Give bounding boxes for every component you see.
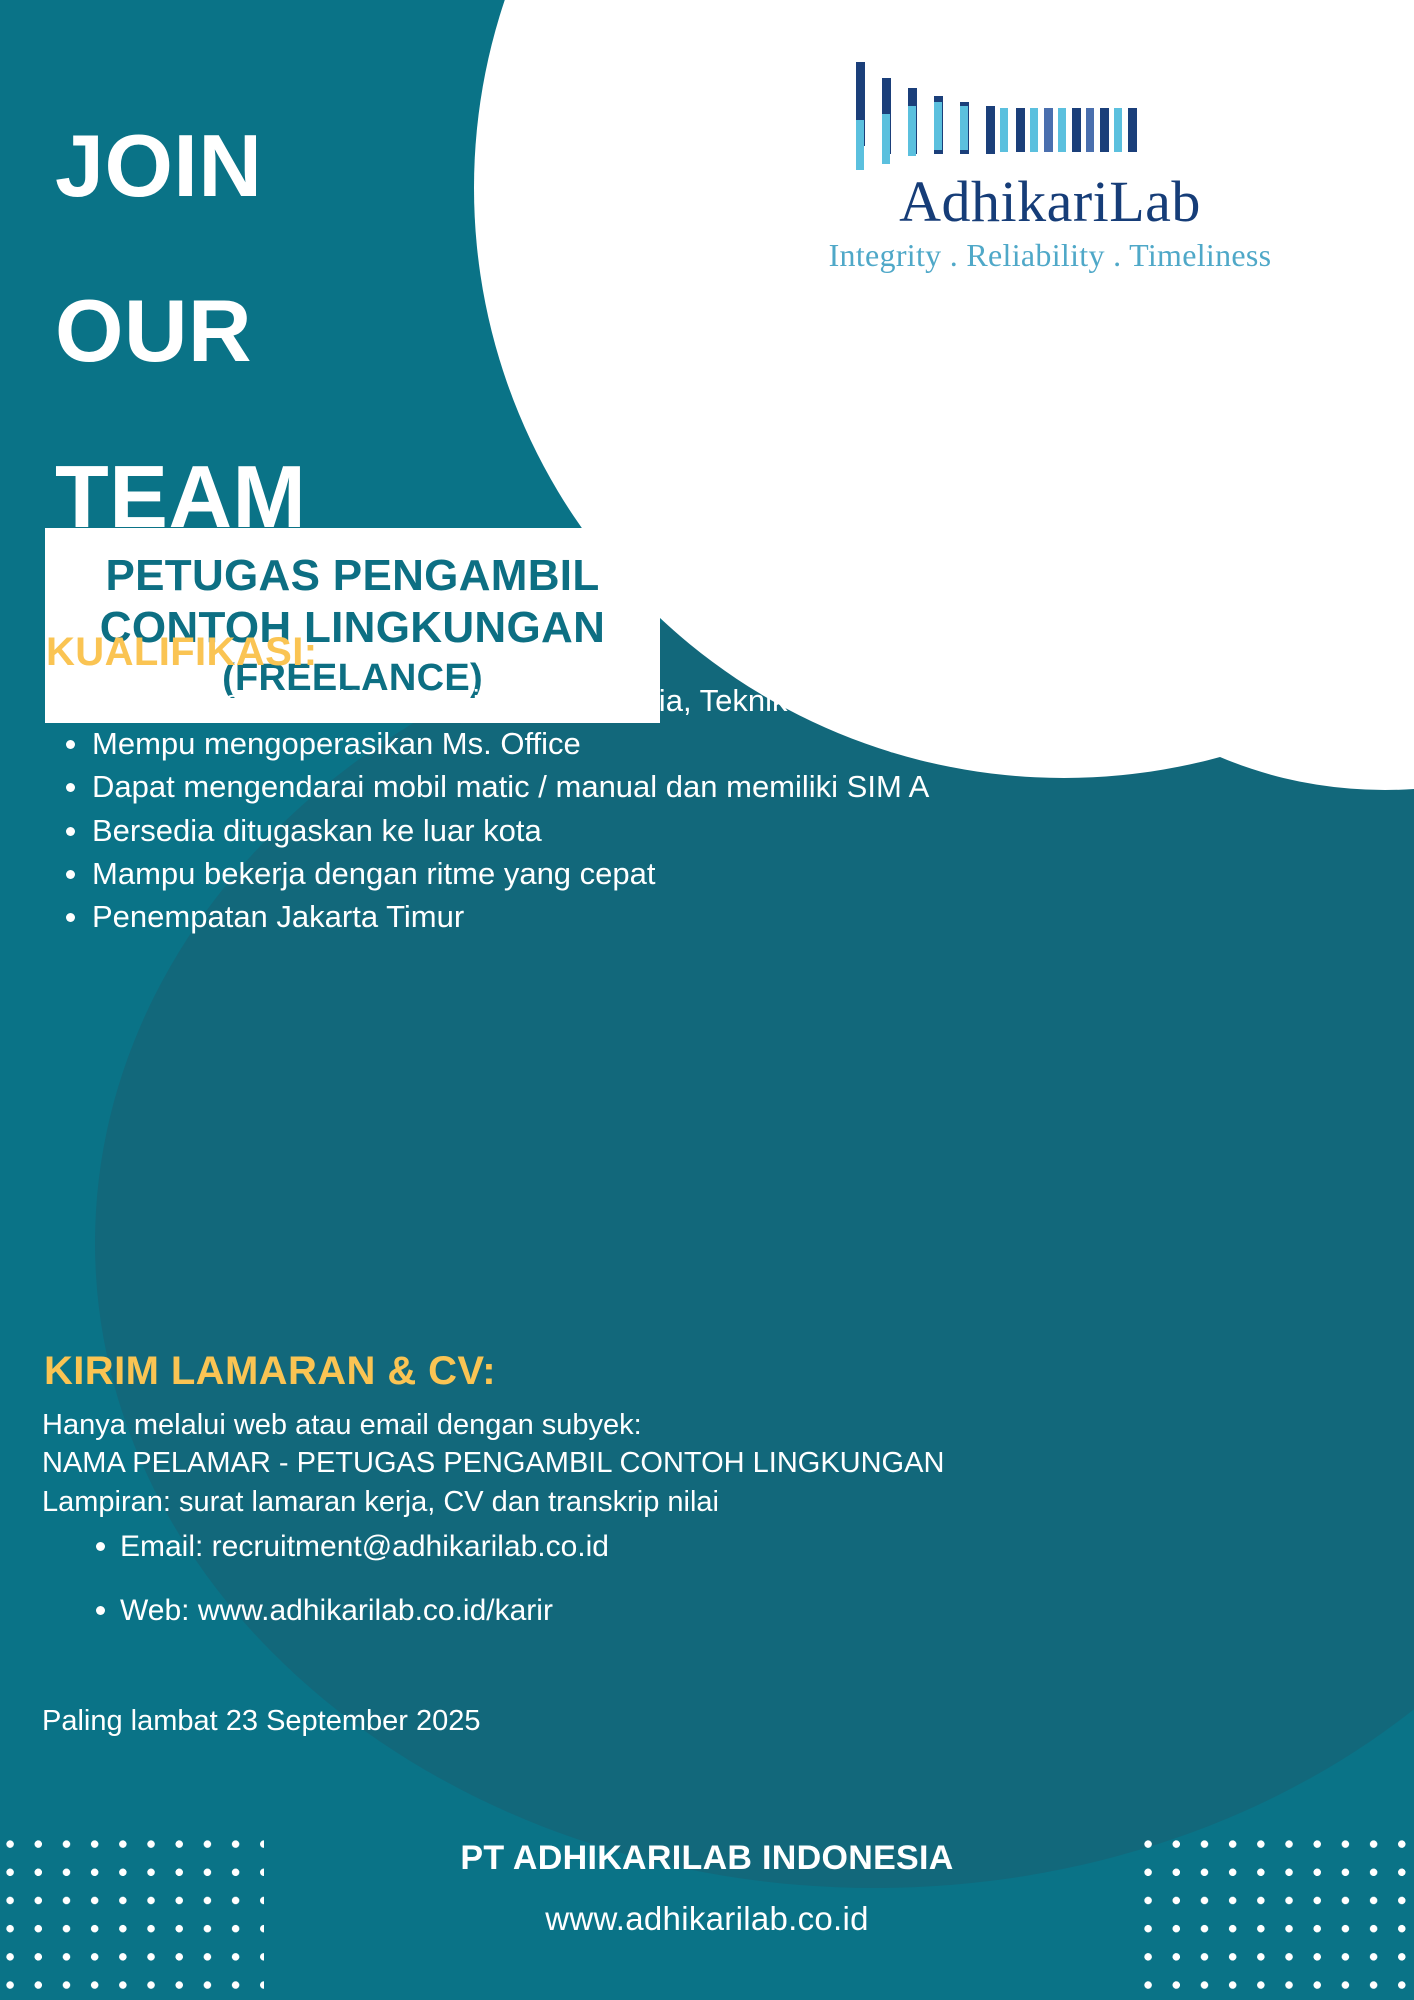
poster-footer: PT ADHIKARILAB INDONESIA www.adhikarilab… [0,1839,1414,1938]
list-item: Penempatan Jakarta Timur [92,898,1252,935]
list-item: Mampu bekerja dengan ritme yang cepat [92,855,1252,892]
list-item: Bersedia ditugaskan ke luar kota [92,812,1252,849]
headline-line-3: TEAM [55,456,306,539]
contact-email[interactable]: Email: recruitment@adhikarilab.co.id [120,1528,1220,1566]
job-poster: JOIN OUR TEAM [0,0,1414,2000]
qualifications-heading: KUALIFIKASI: [46,630,317,675]
contact-web[interactable]: Web: www.adhikarilab.co.id/karir [120,1592,1220,1630]
job-title-line-1: PETUGAS PENGAMBIL [61,550,644,602]
logo-company-name: AdhikariLab [740,172,1360,231]
logo-tagline: Integrity . Reliability . Timeliness [740,237,1360,274]
footer-company-name: PT ADHIKARILAB INDONESIA [0,1839,1414,1878]
contact-list: Email: recruitment@adhikarilab.co.id Web… [80,1528,1220,1655]
qualifications-list: Min Lulusan SMA/SMK Kimia, Analis Kimia,… [48,682,1252,941]
headline-line-2: OUR [55,290,306,373]
apply-instructions: Hanya melalui web atau email dengan suby… [42,1406,1222,1521]
footer-website[interactable]: www.adhikarilab.co.id [0,1900,1414,1938]
company-logo: AdhikariLab Integrity . Reliability . Ti… [740,58,1360,274]
apply-instruction-line-3: Lampiran: surat lamaran kerja, CV dan tr… [42,1483,1222,1521]
headline-line-1: JOIN [55,125,306,208]
list-item: Mempu mengoperasikan Ms. Office [92,725,1252,762]
apply-instruction-line-2: NAMA PELAMAR - PETUGAS PENGAMBIL CONTOH … [42,1444,1222,1482]
list-item: Dapat mengendarai mobil matic / manual d… [92,768,1252,805]
apply-instruction-line-1: Hanya melalui web atau email dengan suby… [42,1406,1222,1444]
barcode-bars-icon [740,58,1360,168]
apply-heading: KIRIM LAMARAN & CV: [44,1349,496,1394]
list-item: Min Lulusan SMA/SMK Kimia, Analis Kimia,… [92,682,1252,719]
application-deadline: Paling lambat 23 September 2025 [42,1705,481,1738]
